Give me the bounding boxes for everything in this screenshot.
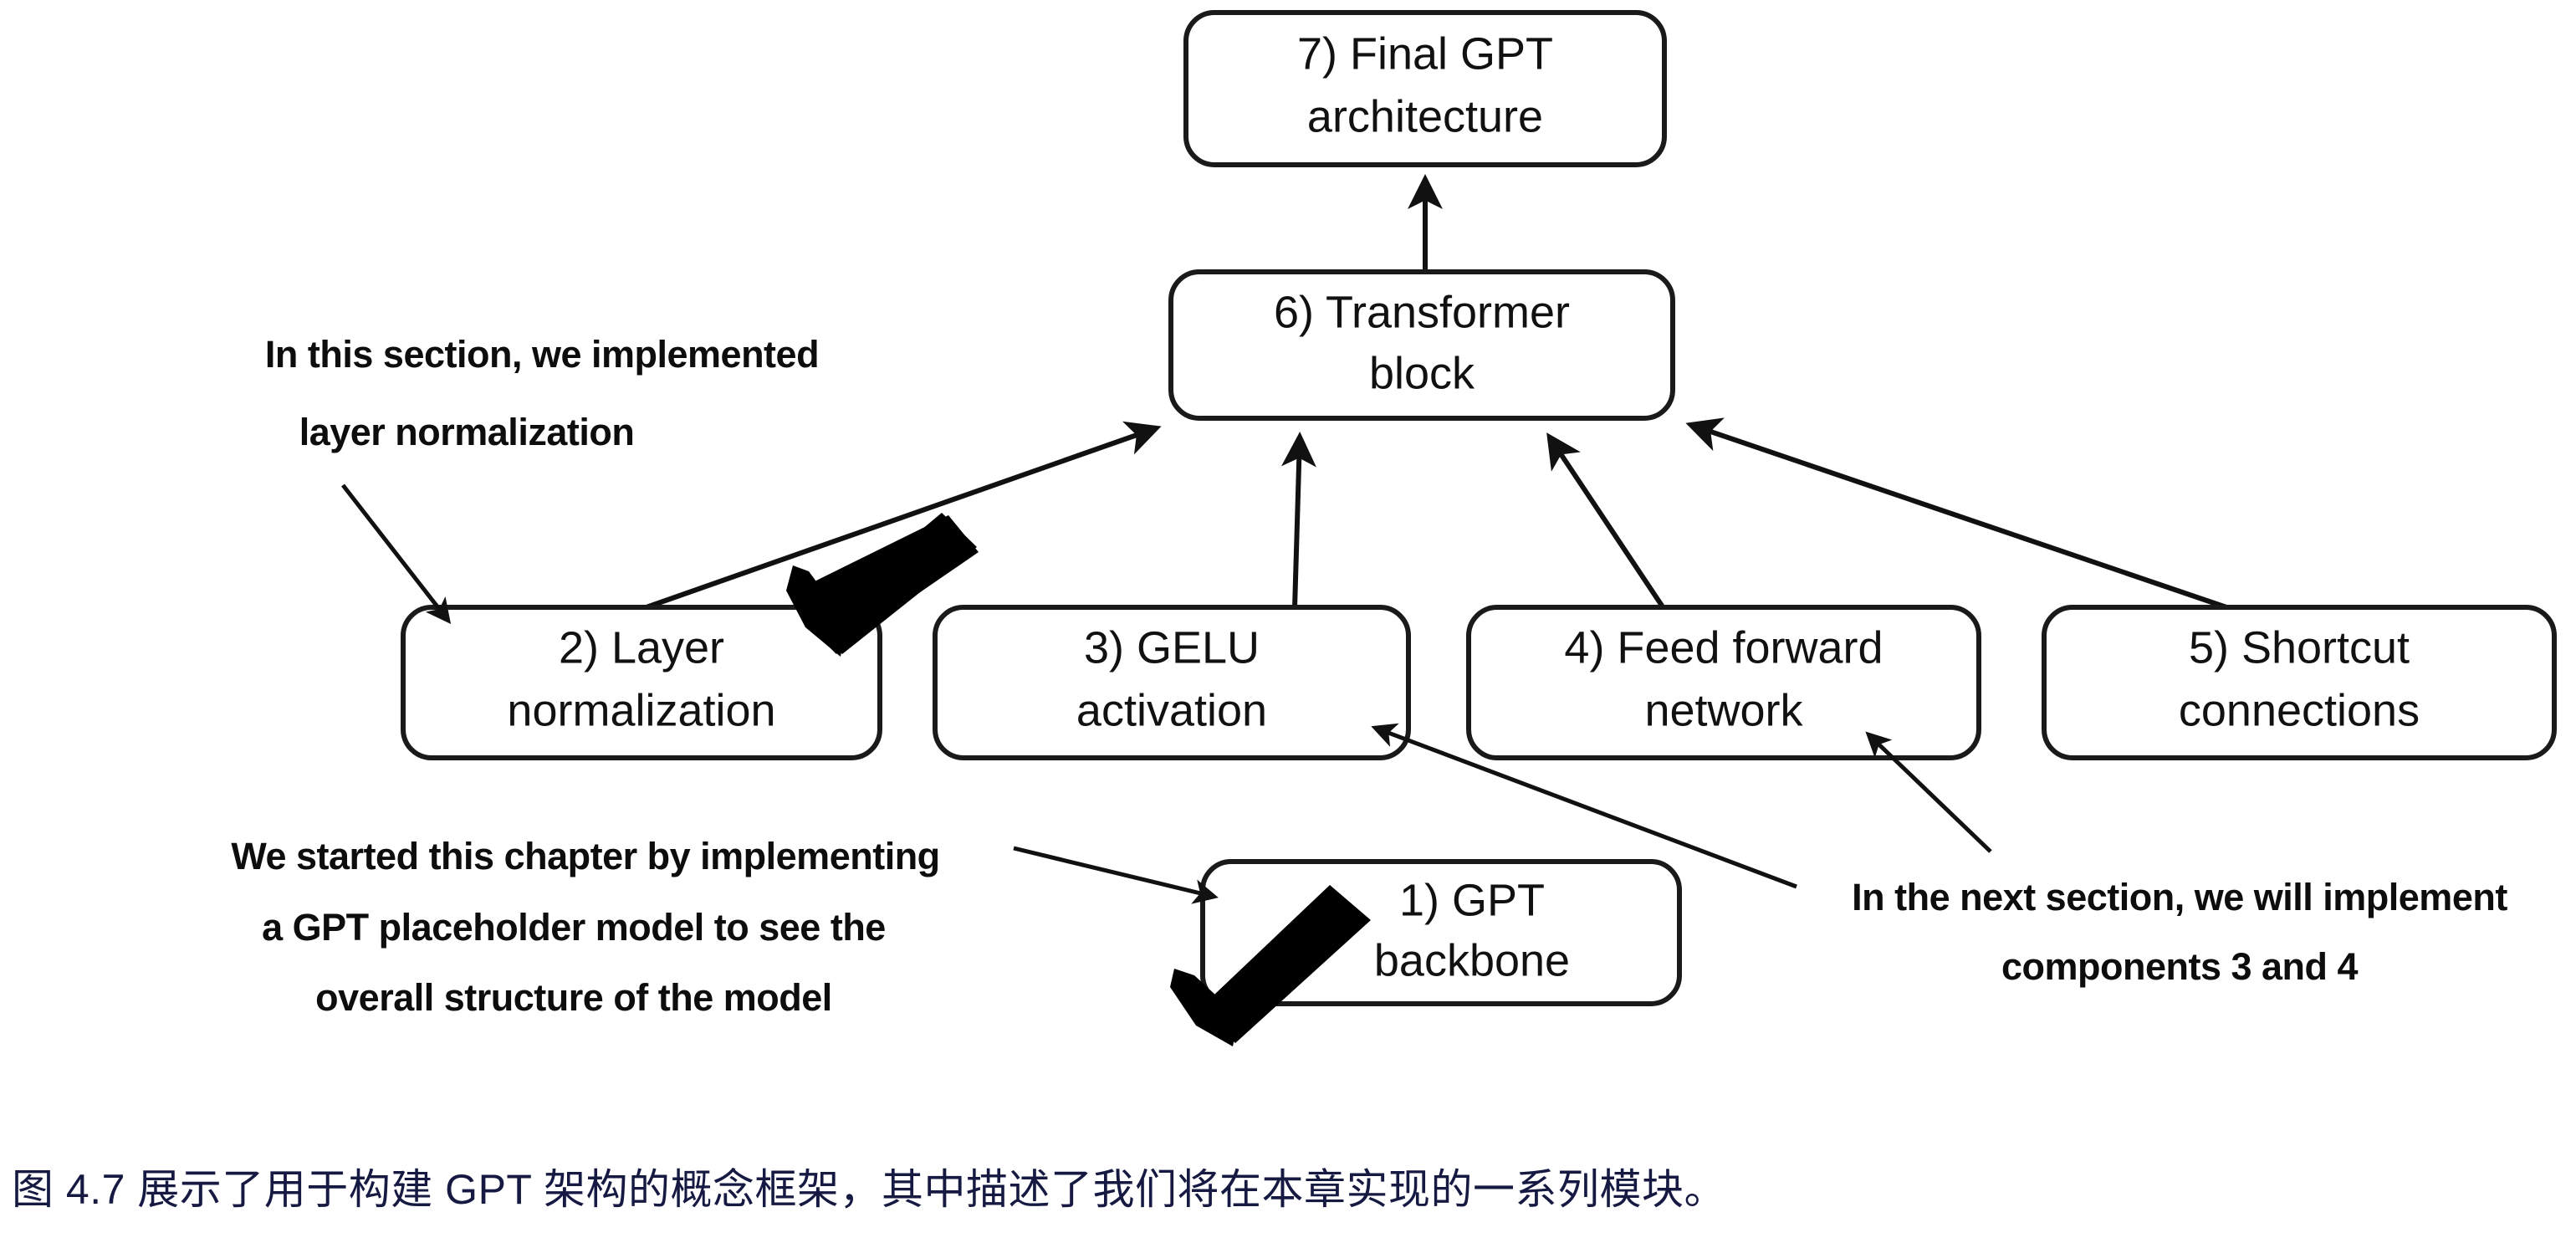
annotation-line: In this section, we implemented (265, 333, 819, 376)
figure-caption: 图 4.7 展示了用于构建 GPT 架构的概念框架，其中描述了我们将在本章实现的… (12, 1156, 2563, 1216)
node-3-gelu-activation[interactable]: 3) GELU activation (935, 607, 1408, 758)
node-label-line1: 4) Feed forward (1564, 622, 1883, 673)
annotation-layer-normalization: In this section, we implemented layer no… (265, 333, 819, 453)
edge-shortcut-to-transformer (1691, 425, 2229, 608)
node-5-shortcut-connections[interactable]: 5) Shortcut connections (2044, 607, 2554, 758)
annotation-line: components 3 and 4 (2001, 945, 2359, 988)
annotation-gpt-backbone: We started this chapter by implementing … (231, 835, 939, 1019)
node-label-line1: 6) Transformer (1274, 287, 1570, 337)
node-label-line2: normalization (507, 685, 775, 735)
node-label-line1: 2) Layer (559, 622, 724, 673)
node-label-line1: 3) GELU (1084, 622, 1260, 673)
node-label-line2: activation (1076, 685, 1267, 735)
node-4-feed-forward-network[interactable]: 4) Feed forward network (1469, 607, 1979, 758)
node-label-line2: block (1369, 348, 1475, 398)
annotation-line: a GPT placeholder model to see the (262, 906, 886, 949)
annotation-line: In the next section, we will implement (1852, 876, 2507, 918)
node-label-line2: network (1644, 685, 1803, 735)
node-label-line2: connections (2179, 685, 2420, 735)
node-label-line2: backbone (1374, 935, 1570, 985)
annotation-line: overall structure of the model (315, 976, 832, 1019)
leader-line-backbone-annotation (1014, 848, 1214, 897)
edge-gelu-to-transformer (1295, 437, 1300, 608)
figure-canvas: 7) Final GPT architecture 6) Transformer… (0, 0, 2576, 1243)
node-6-transformer-block[interactable]: 6) Transformer block (1171, 272, 1673, 418)
annotation-next-section: In the next section, we will implement c… (1852, 876, 2507, 988)
edge-feedforward-to-transformer (1550, 437, 1664, 608)
annotation-line: We started this chapter by implementing (231, 835, 939, 877)
leader-line-layernorm-annotation (343, 485, 448, 621)
annotation-line: layer normalization (299, 411, 635, 453)
gpt-architecture-flowchart: 7) Final GPT architecture 6) Transformer… (0, 0, 2576, 1243)
node-label-line1: 1) GPT (1399, 875, 1545, 925)
node-2-layer-normalization[interactable]: 2) Layer normalization (403, 607, 880, 758)
node-7-final-gpt-architecture[interactable]: 7) Final GPT architecture (1186, 13, 1664, 165)
node-label-line2: architecture (1307, 91, 1543, 141)
node-label-line1: 7) Final GPT (1297, 28, 1553, 79)
node-label-line1: 5) Shortcut (2189, 622, 2410, 673)
